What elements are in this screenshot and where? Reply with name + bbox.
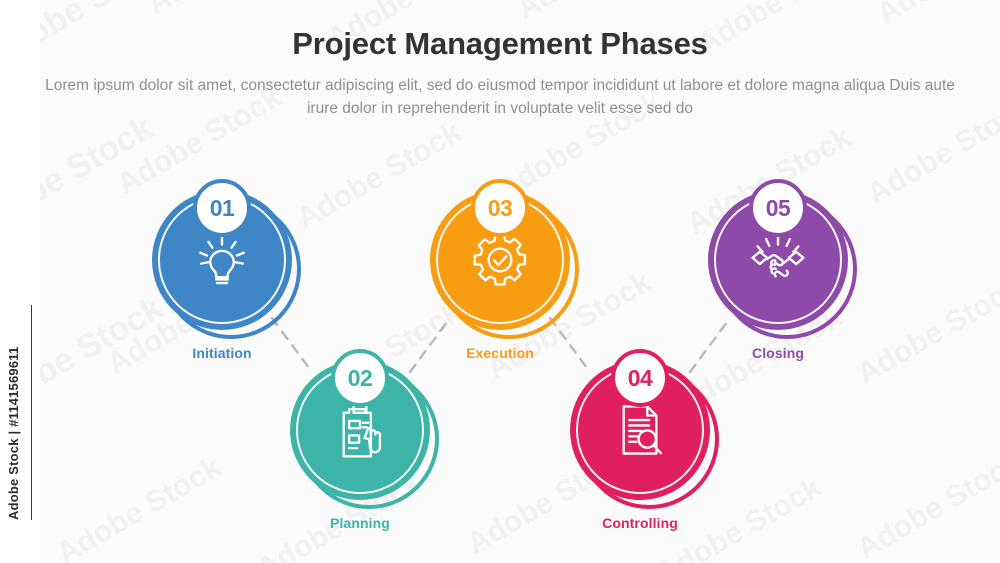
gear-check-icon bbox=[471, 231, 529, 289]
document-search-icon bbox=[611, 401, 669, 459]
phase-number-badge-05[interactable]: 05 bbox=[749, 179, 807, 237]
phase-number-badge-04[interactable]: 04 bbox=[611, 349, 669, 407]
header: Project Management Phases Lorem ipsum do… bbox=[0, 0, 1000, 120]
phase-number-badge-01[interactable]: 01 bbox=[193, 179, 251, 237]
clipboard-hand-icon bbox=[331, 401, 389, 459]
credit-divider-rule bbox=[31, 305, 32, 520]
page-subtitle: Lorem ipsum dolor sit amet, consectetur … bbox=[45, 74, 955, 120]
stock-credit-text: Adobe Stock | #1141569611 bbox=[6, 347, 21, 520]
phase-number-badge-02[interactable]: 02 bbox=[331, 349, 389, 407]
lightbulb-icon bbox=[193, 231, 251, 289]
page-title: Project Management Phases bbox=[0, 26, 1000, 62]
handshake-icon bbox=[749, 231, 807, 289]
phase-number-badge-03[interactable]: 03 bbox=[471, 179, 529, 237]
stock-credit-bar: Adobe Stock | #1141569611 bbox=[0, 0, 40, 563]
